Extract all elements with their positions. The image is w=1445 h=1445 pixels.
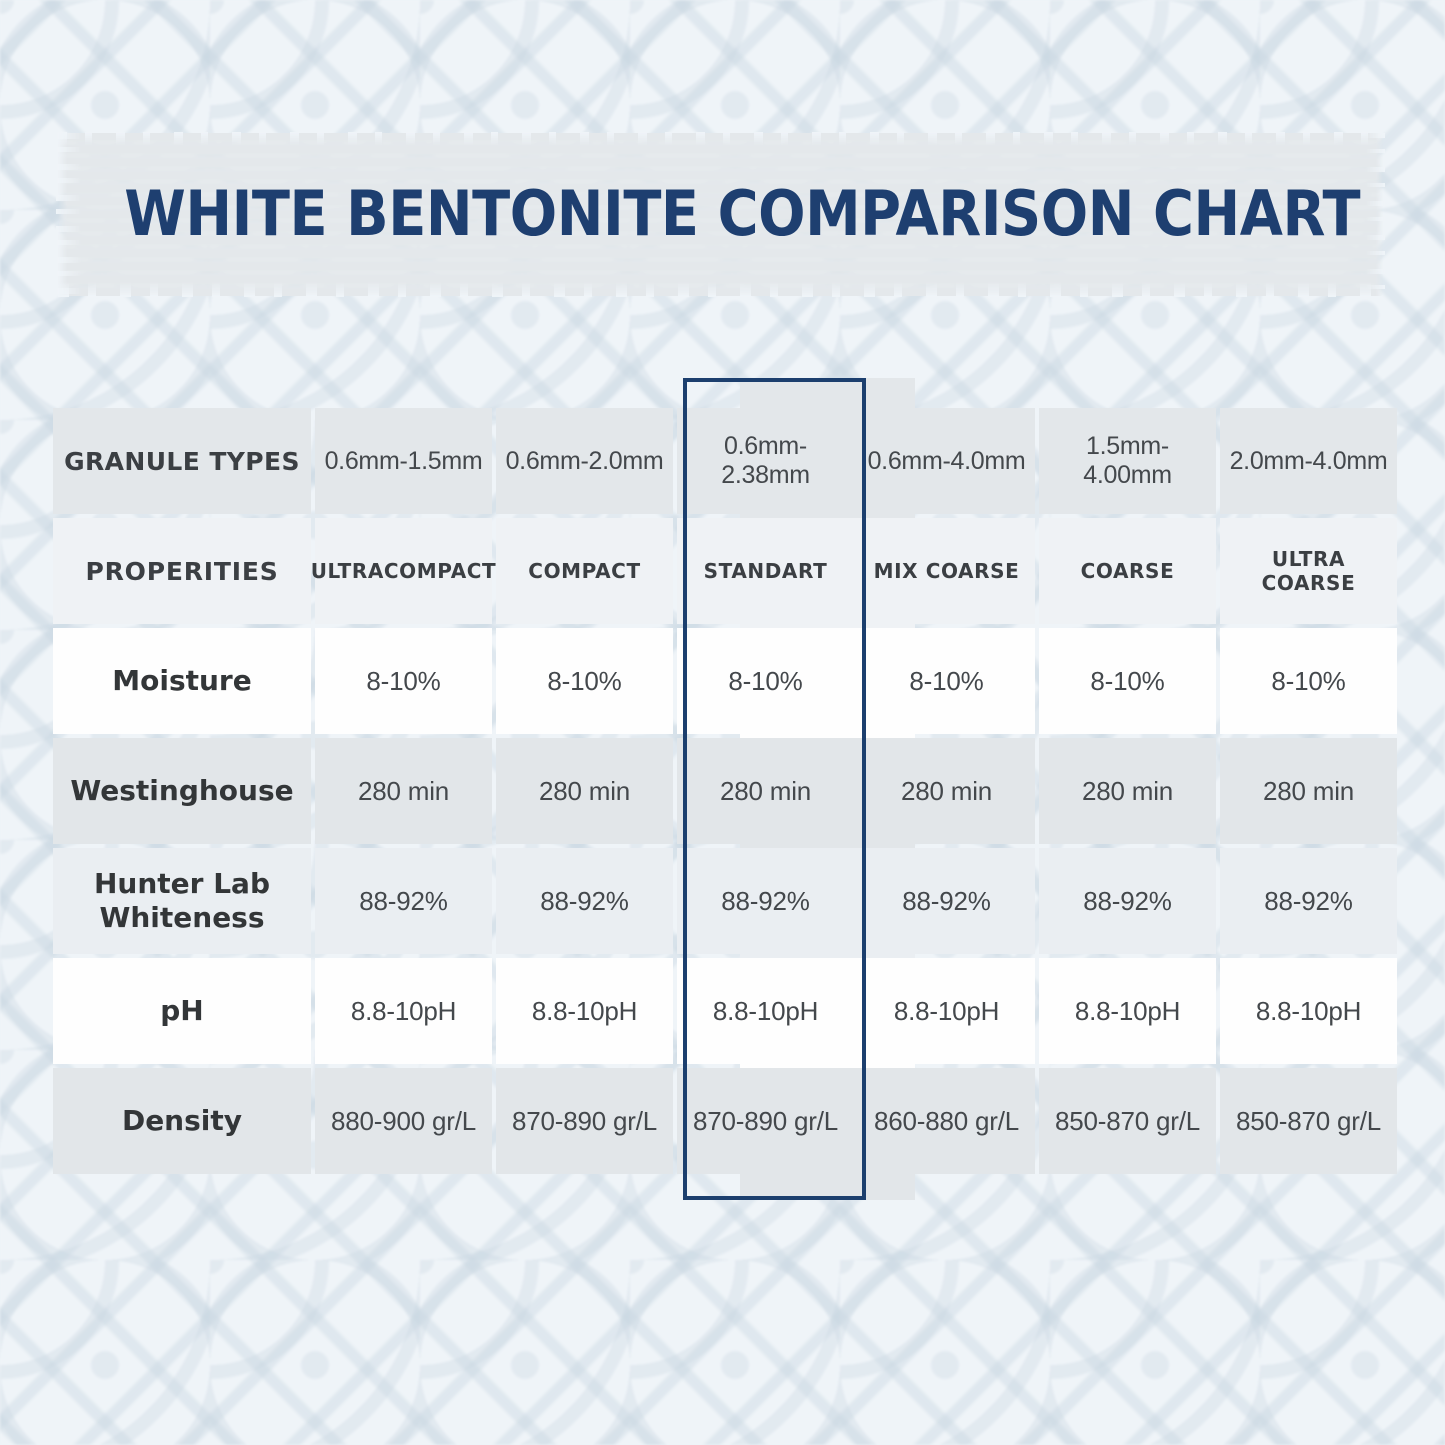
brush-torn-edge-right	[1365, 133, 1385, 296]
cell-moisture-compact: 8-10%	[496, 628, 673, 734]
cell-ph-compact: 8.8-10pH	[496, 958, 673, 1064]
cell-density-ultra-coarse: 850-870 gr/L	[1220, 1068, 1397, 1174]
column-header-ultracompact: ULTRACOMPACT	[315, 518, 492, 624]
cell-ph-ultra-coarse: 8.8-10pH	[1220, 958, 1397, 1064]
granule-type-standart: 0.6mm-2.38mm	[677, 408, 854, 514]
row-label-moisture: Moisture	[53, 628, 311, 734]
cell-density-mix-coarse: 860-880 gr/L	[858, 1068, 1035, 1174]
cell-density-compact: 870-890 gr/L	[496, 1068, 673, 1174]
cell-westinghouse-mix-coarse: 280 min	[858, 738, 1035, 844]
row-label-hunter-lab-whiteness: Hunter Lab Whiteness	[53, 848, 311, 954]
cell-ph-mix-coarse: 8.8-10pH	[858, 958, 1035, 1064]
granule-type-coarse: 1.5mm-4.00mm	[1039, 408, 1216, 514]
cell-hunterlab-ultra-coarse: 88-92%	[1220, 848, 1397, 954]
comparison-table: GRANULE TYPES 0.6mm-1.5mm 0.6mm-2.0mm 0.…	[53, 408, 1393, 1174]
row-header-granule-types: GRANULE TYPES	[53, 408, 311, 514]
cell-westinghouse-ultracompact: 280 min	[315, 738, 492, 844]
cell-moisture-ultra-coarse: 8-10%	[1220, 628, 1397, 734]
page-title: WHITE BENTONITE COMPARISON CHART	[124, 172, 1317, 256]
cell-density-standart: 870-890 gr/L	[677, 1068, 854, 1174]
table-row-granule-types: GRANULE TYPES 0.6mm-1.5mm 0.6mm-2.0mm 0.…	[53, 408, 1393, 514]
cell-moisture-coarse: 8-10%	[1039, 628, 1216, 734]
granule-type-ultra-coarse: 2.0mm-4.0mm	[1220, 408, 1397, 514]
cell-moisture-ultracompact: 8-10%	[315, 628, 492, 734]
cell-hunterlab-coarse: 88-92%	[1039, 848, 1216, 954]
table-row-ph: pH 8.8-10pH 8.8-10pH 8.8-10pH 8.8-10pH 8…	[53, 958, 1393, 1064]
row-label-westinghouse: Westinghouse	[53, 738, 311, 844]
row-label-density: Density	[53, 1068, 311, 1174]
cell-density-ultracompact: 880-900 gr/L	[315, 1068, 492, 1174]
column-header-mix-coarse: MIX COARSE	[858, 518, 1035, 624]
table-row-properties: PROPERITIES ULTRACOMPACT COMPACT STANDAR…	[53, 518, 1393, 624]
cell-westinghouse-standart: 280 min	[677, 738, 854, 844]
cell-westinghouse-coarse: 280 min	[1039, 738, 1216, 844]
cell-westinghouse-ultra-coarse: 280 min	[1220, 738, 1397, 844]
cell-hunterlab-mix-coarse: 88-92%	[858, 848, 1035, 954]
cell-westinghouse-compact: 280 min	[496, 738, 673, 844]
column-header-coarse: COARSE	[1039, 518, 1216, 624]
column-header-compact: COMPACT	[496, 518, 673, 624]
cell-moisture-standart: 8-10%	[677, 628, 854, 734]
row-header-properties: PROPERITIES	[53, 518, 311, 624]
column-header-ultra-coarse: ULTRA COARSE	[1220, 518, 1397, 624]
brush-torn-edge-bottom	[58, 281, 1383, 297]
column-header-standart: STANDART	[677, 518, 854, 624]
brush-torn-edge-left	[56, 133, 82, 296]
cell-ph-coarse: 8.8-10pH	[1039, 958, 1216, 1064]
table-row-moisture: Moisture 8-10% 8-10% 8-10% 8-10% 8-10% 8…	[53, 628, 1393, 734]
row-label-line-1: Hunter Lab	[94, 867, 270, 901]
granule-type-compact: 0.6mm-2.0mm	[496, 408, 673, 514]
table-row-westinghouse: Westinghouse 280 min 280 min 280 min 280…	[53, 738, 1393, 844]
cell-density-coarse: 850-870 gr/L	[1039, 1068, 1216, 1174]
cell-ph-ultracompact: 8.8-10pH	[315, 958, 492, 1064]
cell-moisture-mix-coarse: 8-10%	[858, 628, 1035, 734]
granule-type-mix-coarse: 0.6mm-4.0mm	[858, 408, 1035, 514]
comparison-chart-page: WHITE BENTONITE COMPARISON CHART GRANULE…	[0, 0, 1445, 1445]
brush-torn-edge-top	[58, 132, 1383, 146]
table-row-hunter-lab-whiteness: Hunter Lab Whiteness 88-92% 88-92% 88-92…	[53, 848, 1393, 954]
cell-hunterlab-standart: 88-92%	[677, 848, 854, 954]
cell-hunterlab-ultracompact: 88-92%	[315, 848, 492, 954]
cell-hunterlab-compact: 88-92%	[496, 848, 673, 954]
granule-type-ultracompact: 0.6mm-1.5mm	[315, 408, 492, 514]
table-row-density: Density 880-900 gr/L 870-890 gr/L 870-89…	[53, 1068, 1393, 1174]
row-label-line-2: Whiteness	[94, 901, 270, 935]
cell-ph-standart: 8.8-10pH	[677, 958, 854, 1064]
row-label-ph: pH	[53, 958, 311, 1064]
